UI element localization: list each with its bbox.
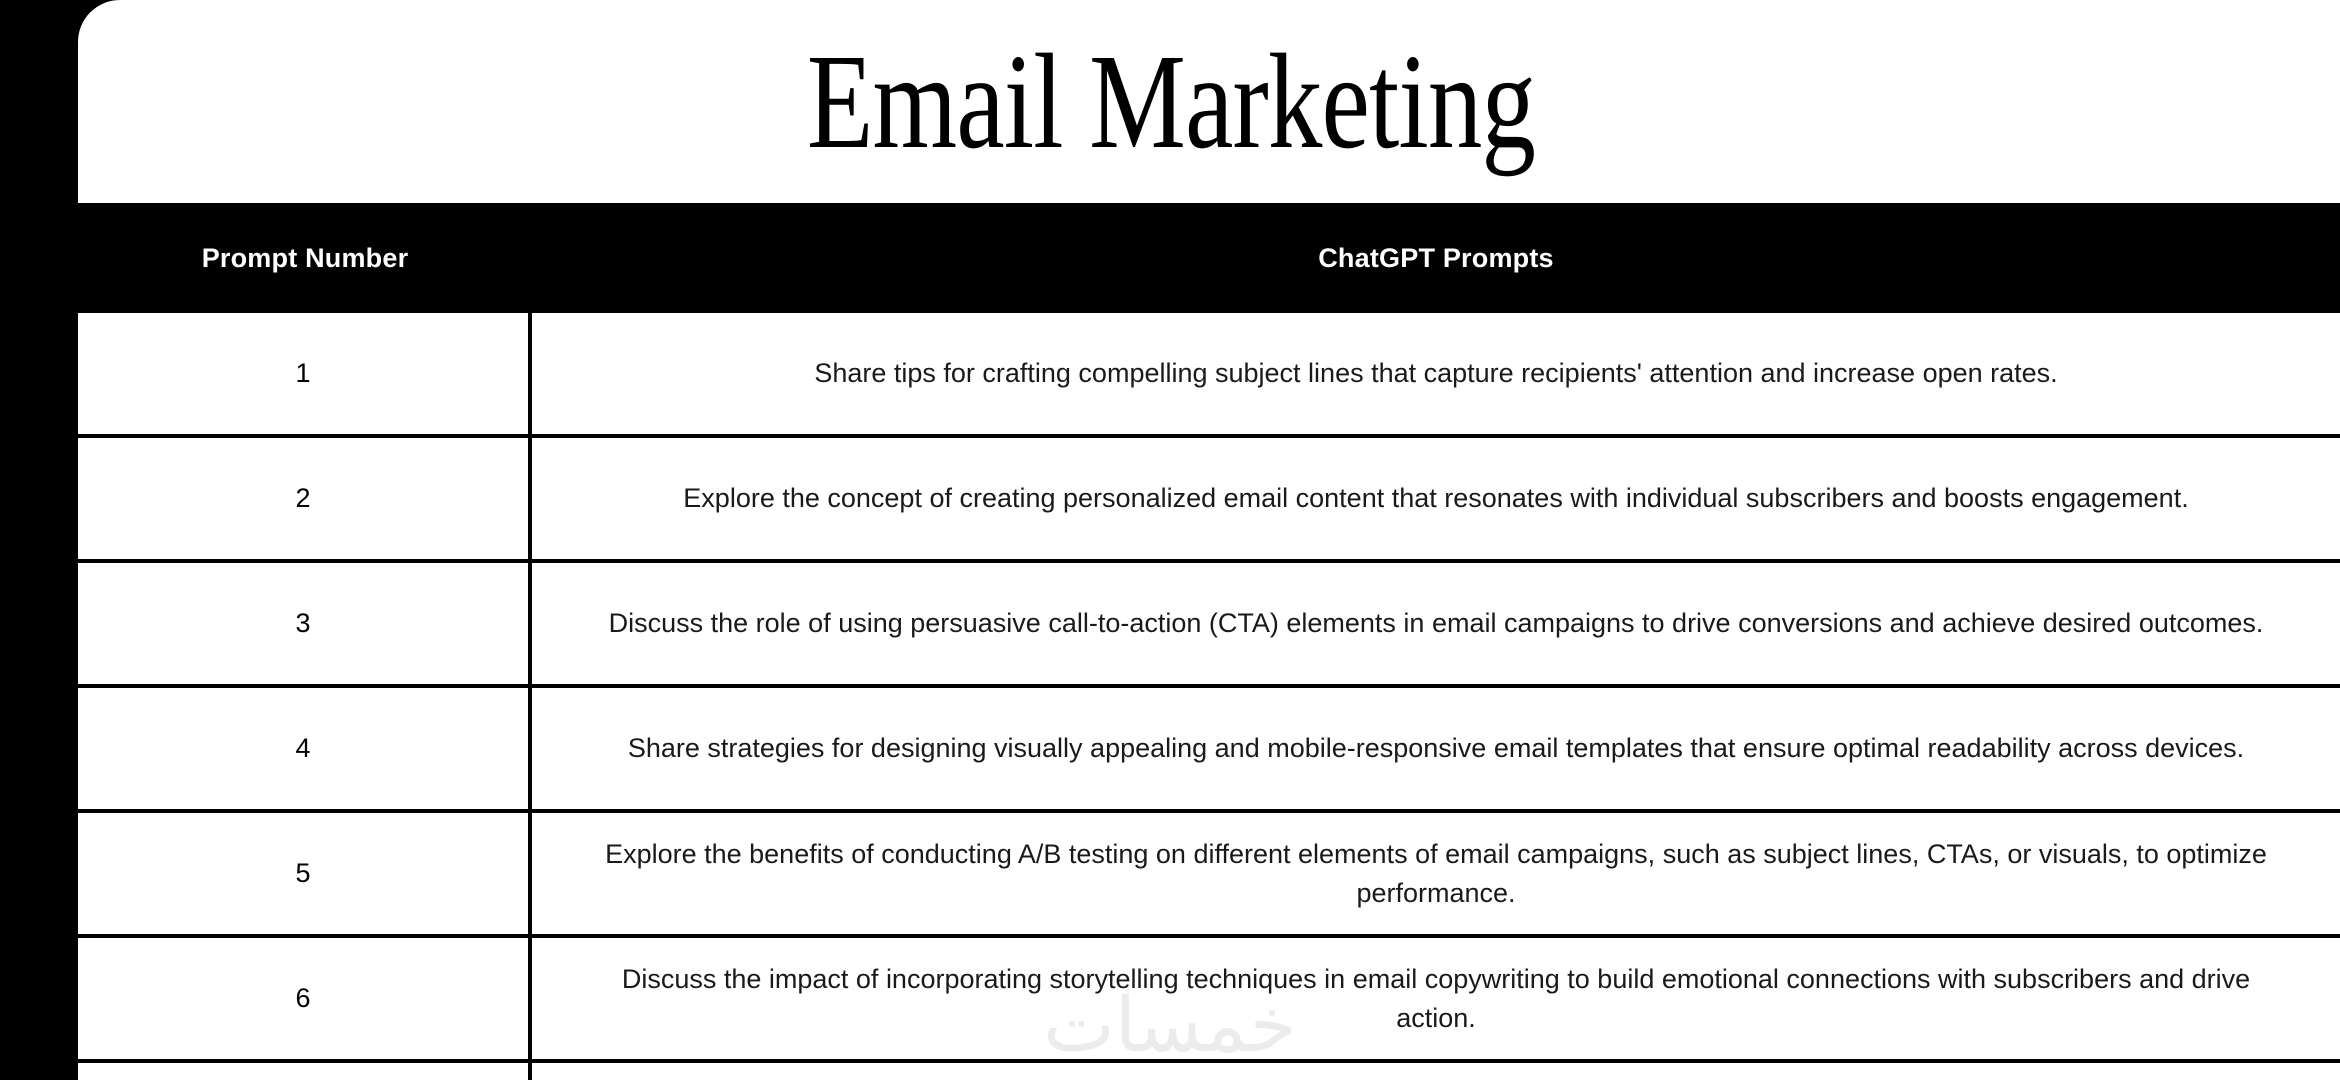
cell-prompt-text: Explore the benefits of conducting A/B t… (532, 813, 2340, 934)
cell-prompt-number: 6 (78, 938, 532, 1059)
table-row: 2 Explore the concept of creating person… (78, 438, 2340, 563)
slide-canvas: Email Marketing Prompt Number ChatGPT Pr… (0, 0, 2340, 1080)
table-header-band: Prompt Number ChatGPT Prompts (0, 203, 2340, 313)
table-row: 4 Share strategies for designing visuall… (78, 688, 2340, 813)
cell-prompt-number: 5 (78, 813, 532, 934)
table-row: 3 Discuss the role of using persuasive c… (78, 563, 2340, 688)
cell-prompt-number: 4 (78, 688, 532, 809)
column-header-chatgpt-prompts: ChatGPT Prompts (532, 203, 2340, 313)
page-title: Email Marketing (297, 0, 2046, 203)
table-row: 5 Explore the benefits of conducting A/B… (78, 813, 2340, 938)
cell-prompt-text: Share tips for crafting compelling subje… (532, 313, 2340, 434)
cell-prompt-number: 2 (78, 438, 532, 559)
table-row: 6 Discuss the impact of incorporating st… (78, 938, 2340, 1063)
cell-prompt-number: 3 (78, 563, 532, 684)
cell-prompt-text: Share strategies for designing visually … (532, 688, 2340, 809)
cell-prompt-text: Discuss the role of using persuasive cal… (532, 563, 2340, 684)
column-header-prompt-number: Prompt Number (78, 203, 532, 313)
title-card: Email Marketing (78, 0, 2340, 203)
cell-prompt-text: Explore the concept of creating personal… (532, 438, 2340, 559)
cell-prompt-text: Discuss the impact of incorporating stor… (532, 938, 2340, 1059)
cell-prompt-number: 1 (78, 313, 532, 434)
table-row: 1 Share tips for crafting compelling sub… (78, 313, 2340, 438)
table-row-partial (78, 1063, 2340, 1080)
table-body: 1 Share tips for crafting compelling sub… (78, 313, 2340, 1080)
cell-prompt-number (78, 1063, 532, 1080)
cell-prompt-text (532, 1063, 2340, 1080)
